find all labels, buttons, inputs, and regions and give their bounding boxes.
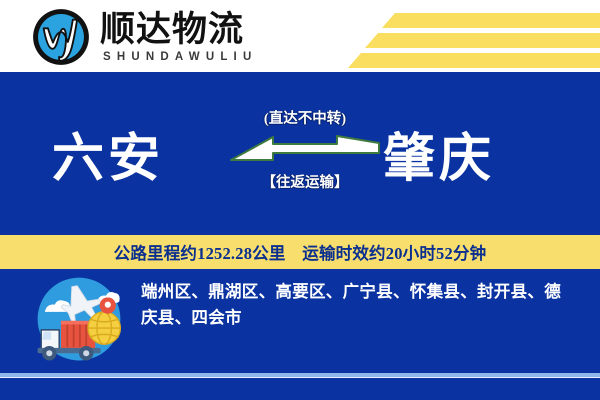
coverage-areas-text: 端州区、鼎湖区、高要区、广宁县、怀集县、封开县、德庆县、四会市	[141, 279, 563, 330]
brand-logo-block: 顺达物流 SHUNDAWULIU	[30, 6, 257, 68]
distance-duration-bar: 公路里程约1252.28公里 运输时效约20小时52分钟	[0, 235, 600, 269]
logistics-truck-plane-globe-icon	[25, 272, 133, 367]
coverage-section: 端州区、鼎湖区、高要区、广宁县、怀集县、封开县、德庆县、四会市	[0, 269, 600, 374]
brand-name-cn: 顺达物流	[100, 11, 257, 49]
route-middle-block: (直达不中转) 【往返运输】	[225, 112, 385, 190]
banner-header: 顺达物流 SHUNDAWULIU	[0, 0, 600, 72]
route-section: 六安 (直达不中转) 【往返运输】 肇庆	[0, 72, 600, 235]
origin-city: 六安	[52, 134, 164, 186]
decorative-yellow-stripes	[340, 0, 600, 72]
brand-name-en: SHUNDAWULIU	[100, 51, 257, 64]
circular-w-logo-icon	[30, 6, 92, 68]
roundtrip-shipment-note: 【往返运输】	[262, 176, 349, 191]
distance-duration-text: 公路里程约1252.28公里 运输时效约20小时52分钟	[114, 240, 487, 264]
brand-wordmark: 顺达物流 SHUNDAWULIU	[100, 11, 257, 63]
destination-city: 肇庆	[383, 134, 495, 186]
direct-shipment-note: (直达不中转)	[264, 112, 346, 127]
bidirectional-arrow-icon	[229, 135, 381, 169]
banner-footer	[0, 378, 600, 400]
logistics-route-banner: 顺达物流 SHUNDAWULIU 六安 (直达不中转) 【往返运输】 肇庆 公路…	[0, 0, 600, 400]
